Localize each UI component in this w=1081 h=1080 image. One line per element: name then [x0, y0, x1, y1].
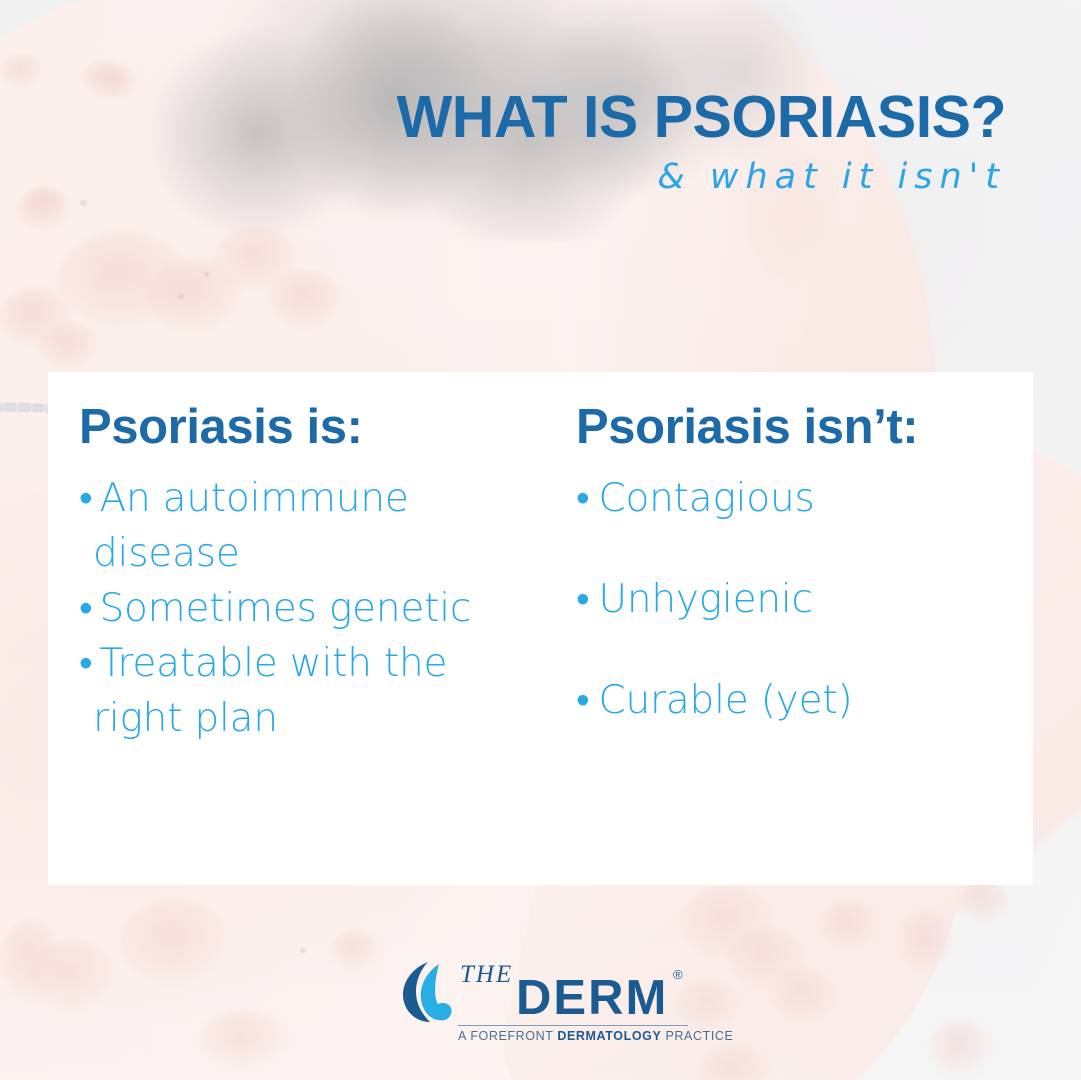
- bullet-icon: •: [79, 586, 92, 631]
- poster: WHAT IS PSORIASIS? & what it isn't Psori…: [0, 0, 1081, 1080]
- list-item: •Contagious: [576, 471, 1023, 526]
- list-item-label: Curable (yet): [598, 678, 852, 723]
- bullet-icon: •: [576, 476, 589, 521]
- list-item: •An autoimmune disease: [79, 471, 535, 581]
- logo-tagline-bold: DERMATOLOGY: [557, 1029, 661, 1043]
- logo-derm-text: DERM: [516, 970, 668, 1026]
- list-item-label: Contagious: [598, 476, 814, 521]
- list-item-label: An autoimmune disease: [93, 476, 409, 576]
- logo-tagline-suffix: PRACTICE: [661, 1029, 733, 1043]
- page-subtitle: & what it isn't: [300, 154, 1006, 200]
- the-derm-swoosh-icon: [398, 960, 460, 1024]
- content-card: Psoriasis is: •An autoimmune disease •So…: [48, 372, 1033, 885]
- list-item: •Curable (yet): [576, 673, 1023, 728]
- logo-divider: [458, 1025, 688, 1026]
- column-heading-is: Psoriasis is:: [79, 399, 535, 455]
- headline-block: WHAT IS PSORIASIS? & what it isn't: [300, 86, 1006, 200]
- logo-the-text: THE: [460, 961, 513, 989]
- brand-logo[interactable]: THE DERM ® A FOREFRONT DERMATOLOGY PRACT…: [398, 958, 688, 1050]
- list-item: •Unhygienic: [576, 572, 1023, 627]
- column-heading-isnt: Psoriasis isn’t:: [576, 399, 1023, 455]
- column-psoriasis-is: Psoriasis is: •An autoimmune disease •So…: [48, 372, 545, 885]
- registered-trademark-icon: ®: [673, 967, 683, 982]
- list-psoriasis-is: •An autoimmune disease •Sometimes geneti…: [79, 471, 535, 746]
- bullet-icon: •: [576, 577, 589, 622]
- list-psoriasis-isnt: •Contagious •Unhygienic •Curable (yet): [576, 471, 1023, 728]
- list-item: •Sometimes genetic: [79, 581, 535, 636]
- list-item-label: Treatable with the right plan: [93, 641, 447, 741]
- bullet-icon: •: [79, 476, 92, 521]
- logo-tagline-prefix: A FOREFRONT: [458, 1029, 557, 1043]
- list-item: •Treatable with the right plan: [79, 636, 535, 746]
- column-psoriasis-isnt: Psoriasis isn’t: •Contagious •Unhygienic…: [545, 372, 1033, 885]
- bullet-icon: •: [576, 678, 589, 723]
- list-item-label: Unhygienic: [598, 577, 812, 622]
- list-item-label: Sometimes genetic: [99, 586, 471, 631]
- page-title: WHAT IS PSORIASIS?: [300, 86, 1006, 148]
- bullet-icon: •: [79, 641, 92, 686]
- logo-tagline: A FOREFRONT DERMATOLOGY PRACTICE: [458, 1029, 688, 1043]
- logo-wordmark-row: THE DERM ®: [398, 958, 688, 1024]
